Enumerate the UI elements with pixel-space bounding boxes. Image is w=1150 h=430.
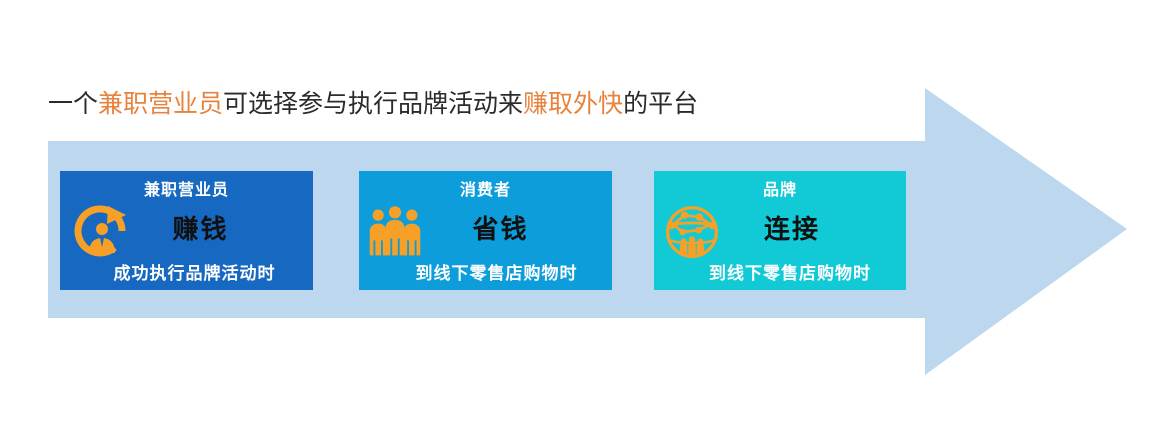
card-row: 兼职营业员 赚钱 成功执行品牌活动时 消费者: [0, 0, 1150, 430]
card-1-header: 兼职营业员: [60, 176, 313, 200]
card-2-footer: 到线下零售店购物时: [359, 259, 612, 284]
slide-canvas: 一个兼职营业员可选择参与执行品牌活动来赚取外快的平台 兼职营业员 赚钱 成功执行…: [0, 0, 1150, 430]
card-2-header: 消费者: [359, 176, 612, 200]
card-1-main-label: 赚钱: [60, 209, 313, 246]
card-consumer[interactable]: 消费者 省钱 到线下零售店购物时: [359, 171, 612, 290]
card-brand[interactable]: 品牌: [654, 171, 906, 290]
card-3-main-label: 连接: [654, 209, 906, 246]
card-3-footer: 到线下零售店购物时: [654, 259, 906, 284]
card-3-header: 品牌: [654, 176, 906, 200]
card-part-time-salesperson[interactable]: 兼职营业员 赚钱 成功执行品牌活动时: [60, 171, 313, 290]
card-1-footer: 成功执行品牌活动时: [60, 259, 313, 284]
card-2-main-label: 省钱: [359, 209, 612, 246]
